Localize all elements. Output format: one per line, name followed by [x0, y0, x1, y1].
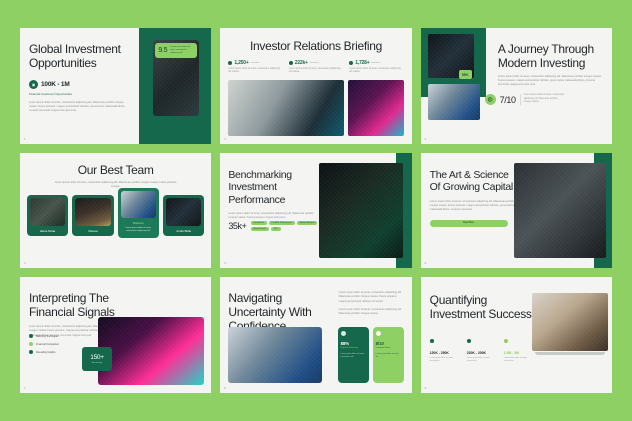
stat-value: 1,250+ [234, 60, 248, 66]
ratio-value: 7/10 [500, 95, 516, 105]
slide-number: 2 [224, 137, 226, 141]
slide-number: 3 [425, 137, 427, 141]
stat-card-value: 8/10 [376, 341, 401, 346]
slide-thumbnail-8[interactable]: Navigating Uncertainty With Confidence L… [220, 277, 411, 393]
score-badge: 9.5 Lorem ipsum dolor sit amet, consecte… [155, 43, 197, 58]
slide-number: 4 [24, 261, 26, 265]
stat-card: 88% Digital Preferences Lorem ipsum dolo… [338, 327, 369, 383]
slide-thumbnail-9[interactable]: Quantifying Investment Success 120K - 25… [421, 277, 612, 393]
member-photo [166, 198, 201, 226]
slide-1-title: Global Investment Opportunities [29, 42, 128, 70]
slide-6-body: Lorem ipsum dolor sit amet, consectetur … [430, 200, 518, 212]
slide-1-body: Lorem ipsum dolor sit amet, consectetur … [29, 101, 128, 113]
team-card-list: Elena Moda Velouse Roberto Lorem ipsum d… [27, 195, 204, 260]
slide-2-title-wrap: Investor Relations Briefing [220, 39, 411, 53]
stat-item: 1,250+ Investors Lorem ipsum dolor sit a… [228, 60, 282, 75]
range-desc: Lorem ipsum dolor sit amet, consectetur. [467, 357, 500, 362]
slide-thumbnail-5[interactable]: Benchmarking Investment Performance Lore… [220, 153, 411, 269]
stat-row: 1,250+ Investors Lorem ipsum dolor sit a… [228, 60, 403, 75]
score-value: 9.5 [158, 47, 167, 54]
kpi-value: 100K - 1M [41, 81, 70, 88]
slide-6-text-block: The Art & Science Of Growing Capital Lor… [430, 169, 518, 227]
slide-5-title: Benchmarking Investment Performance [228, 169, 316, 207]
score-note: Lorem ipsum dolor sit amet, consectetur … [170, 46, 194, 55]
stat-label: Investors [251, 62, 260, 64]
slide-2-gallery [228, 80, 403, 136]
stat-card: 8/10 Investors Score Lorem ipsum dolor s… [373, 327, 404, 383]
stat-desc: Lorem ipsum dolor sit amet, consectetur … [289, 68, 343, 75]
range-stat: 120K - 250K Lorem ipsum dolor sit amet, … [430, 330, 463, 362]
slide-number: 9 [425, 386, 427, 390]
slide-8-body-2: Lorem ipsum dolor sit amet, consectetur … [339, 308, 404, 316]
slide-4-title-wrap: Our Best Team [20, 163, 211, 177]
slide-2-photo-2 [348, 80, 403, 136]
slide-9-text-block: Quantifying Investment Success [430, 293, 535, 321]
stat-card-desc: Lorem ipsum dolor sit amet, consectetur … [341, 353, 366, 358]
slide-9-photo [532, 293, 608, 351]
slide-number: 6 [425, 261, 427, 265]
stat-icon [289, 61, 293, 65]
globe-icon: ◍ [485, 94, 496, 105]
slide-2-photo-1 [228, 80, 344, 136]
slide-thumbnail-1[interactable]: 9.5 Lorem ipsum dolor sit amet, consecte… [20, 28, 211, 144]
slide-number: 5 [224, 261, 226, 265]
member-bio: Lorem ipsum dolor sit amet, consectetur … [121, 227, 156, 233]
stat-icon [349, 61, 353, 65]
tag-pill[interactable]: Market Analysis [297, 221, 318, 225]
count-badge: 150+ Accounting [82, 347, 112, 371]
member-name: Velouse [75, 229, 110, 233]
slide-thumbnail-2[interactable]: Investor Relations Briefing 1,250+ Inves… [220, 28, 411, 144]
slide-grid: 9.5 Lorem ipsum dolor sit amet, consecte… [0, 0, 632, 421]
slide-number: 1 [24, 137, 26, 141]
member-photo [75, 198, 110, 226]
tag-list: Investment Portfolio Performance Market … [251, 221, 323, 232]
member-name: Elena Moda [30, 229, 65, 233]
badge-value: 150+ [90, 354, 103, 361]
stat-item: 222k+ Investors Lorem ipsum dolor sit am… [289, 60, 343, 75]
check-icon [29, 350, 33, 354]
slide-5-text-block: Benchmarking Investment Performance Lore… [228, 169, 316, 221]
stat-label: Investors [310, 62, 319, 64]
slide-8-photo [228, 327, 322, 383]
slide-2-title: Investor Relations Briefing [220, 39, 411, 53]
check-icon [29, 334, 33, 338]
metric-icon [341, 331, 346, 336]
slide-5-body: Lorem ipsum dolor sit amet, consectetur … [228, 212, 316, 220]
stat-card-list: 88% Digital Preferences Lorem ipsum dolo… [338, 327, 404, 383]
range-icon [430, 339, 434, 343]
range-desc: Lorem ipsum dolor sit amet, consectetur. [430, 357, 463, 362]
metric-icon [376, 331, 381, 336]
member-photo [30, 198, 65, 226]
slide-thumbnail-4[interactable]: Our Best Team Lorem ipsum dolor sit amet… [20, 153, 211, 269]
team-card-active[interactable]: Roberto Lorem ipsum dolor sit amet, cons… [118, 188, 159, 238]
team-card[interactable]: Andre Bella [163, 195, 204, 236]
stat-card-desc: Lorem ipsum dolor sit amet elit. [376, 353, 401, 358]
slide-6-photo [514, 163, 606, 259]
kpi-row: ▣ 100K - 1M [29, 80, 128, 89]
chart-icon: ▣ [29, 80, 38, 89]
stat-icon [228, 61, 232, 65]
team-card[interactable]: Velouse [72, 195, 113, 236]
slide-9-title: Quantifying Investment Success [430, 293, 535, 321]
stat-value: 222k+ [295, 60, 308, 66]
metric-row: 35k+ Investment Portfolio Performance Ma… [228, 221, 327, 232]
slide-thumbnail-3[interactable]: 55% A Journey Through Modern Investing L… [421, 28, 612, 144]
slide-4-subtitle: Lorem ipsum dolor sit amet, consectetur … [50, 181, 181, 189]
bullet-label: Matching Techniques [36, 335, 58, 338]
slide-3-title: A Journey Through Modern Investing [498, 42, 605, 70]
slide-8-body-1: Lorem ipsum dolor sit amet, consectetur … [339, 291, 404, 303]
member-photo [121, 191, 156, 218]
slide-thumbnail-6[interactable]: The Art & Science Of Growing Capital Lor… [421, 153, 612, 269]
slide-7-photo [98, 317, 204, 385]
range-icon [504, 339, 508, 343]
slide-thumbnail-7[interactable]: Interpreting The Financial Signals Lorem… [20, 277, 211, 393]
check-icon [29, 342, 33, 346]
tag-pill[interactable]: Investment [251, 221, 267, 225]
member-name: Roberto [121, 221, 156, 225]
tag-pill[interactable]: Portfolio Performance [269, 221, 295, 225]
laptop-base [535, 352, 605, 355]
slide-1-text-block: Global Investment Opportunities ▣ 100K -… [29, 42, 128, 113]
slide-6-title: The Art & Science Of Growing Capital [430, 169, 518, 194]
team-card[interactable]: Elena Moda [27, 195, 68, 236]
slide-7-title: Interpreting The Financial Signals [29, 291, 148, 319]
bullet-label: Financial Comparison [36, 343, 59, 346]
stat-label: Investors [371, 62, 380, 64]
stat-desc: Lorem ipsum dolor sit amet, consectetur … [228, 68, 282, 75]
slide-3-body: Lorem ipsum dolor sit amet, consectetur … [498, 75, 605, 87]
slide-number: 8 [224, 386, 226, 390]
stat-card-value: 88% [341, 341, 366, 346]
ratio-block: ◍ 7/10 Lorem ipsum dolor sit amet, conse… [485, 94, 566, 105]
slide-5-photo [319, 163, 403, 259]
range-value: 220K - 200K [467, 351, 500, 355]
metric-value: 35k+ [228, 221, 246, 231]
range-icon [467, 339, 471, 343]
slide-8-side-text: Lorem ipsum dolor sit amet, consectetur … [339, 291, 404, 315]
stat-item: 1,728+ Investors Lorem ipsum dolor sit a… [349, 60, 403, 75]
member-name: Andre Bella [166, 229, 201, 233]
tag-pill[interactable]: ROI [271, 227, 281, 231]
stat-desc: Lorem ipsum dolor sit amet, consectetur … [349, 68, 403, 75]
stat-value: 1,728+ [355, 60, 369, 66]
kpi-subtitle: Financial Investment Opportunities [29, 92, 128, 96]
stat-card-label: Digital Preferences [341, 347, 366, 349]
range-stat-list: 120K - 250K Lorem ipsum dolor sit amet, … [430, 330, 537, 362]
bullet-label: Revealing Insights [36, 351, 56, 354]
slide-4-title: Our Best Team [20, 163, 211, 177]
stat-card-label: Investors Score [376, 347, 401, 349]
badge-label: Accounting [92, 362, 102, 364]
laptop-mockup [532, 293, 608, 355]
range-stat: 220K - 200K Lorem ipsum dolor sit amet, … [467, 330, 500, 362]
slide-number: 7 [24, 386, 26, 390]
range-value: 120K - 250K [430, 351, 463, 355]
ratio-note: Lorem ipsum dolor sit amet, consectetur … [520, 94, 566, 104]
range-desc: Lorem ipsum dolor sit amet, consectetur. [504, 357, 537, 362]
slide-3-text-block: A Journey Through Modern Investing Lorem… [498, 42, 605, 87]
slide-3-photo-2 [428, 84, 480, 120]
read-more-button[interactable]: Read More [430, 220, 508, 227]
percent-badge: 55% [459, 70, 472, 79]
tag-pill[interactable]: Asset Growth [251, 227, 269, 231]
